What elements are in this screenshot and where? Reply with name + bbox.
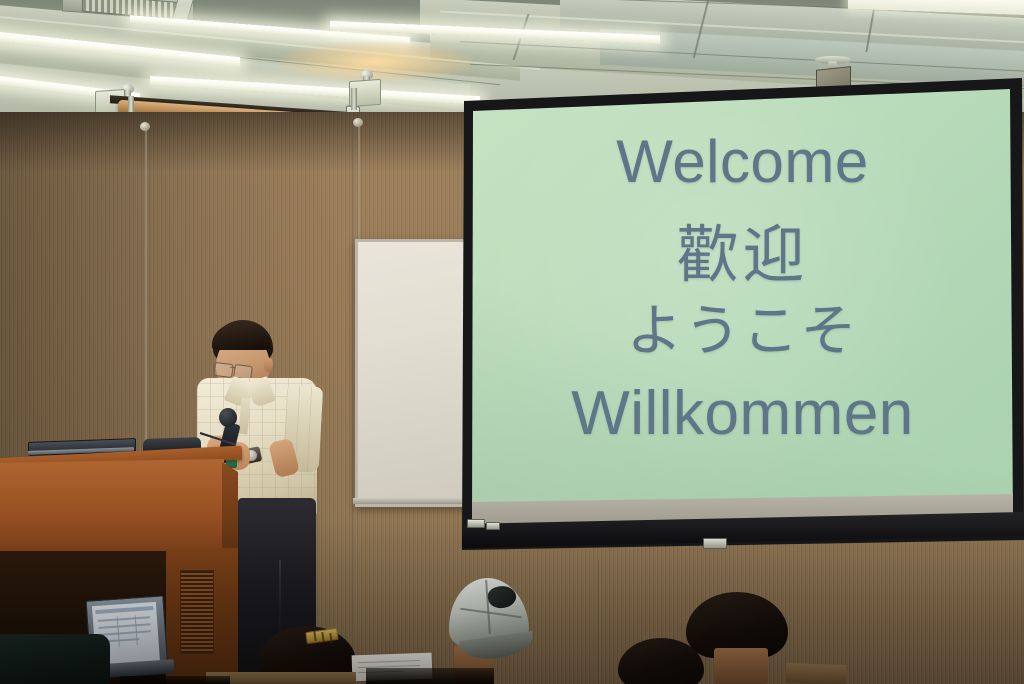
podium-front-face <box>0 459 224 557</box>
projection-screen[interactable]: Welcome 歡迎 ようこそ Willkommen <box>472 86 1013 533</box>
laptop-window-row <box>99 630 151 636</box>
wall-panel-seam <box>598 560 600 684</box>
chair-backrest <box>0 634 110 684</box>
screen-roller-bracket <box>128 96 134 112</box>
screen-center-clip <box>703 538 727 549</box>
slide-line-german: Willkommen <box>472 383 1013 445</box>
paper-line <box>358 660 420 663</box>
slide-line-welcome: Welcome <box>472 132 1013 192</box>
slide-line-chinese: 歡迎 <box>472 224 1013 286</box>
wall-panel-seam <box>352 120 354 680</box>
screen-roller-bracket <box>351 88 357 110</box>
screen-left-clip-secondary <box>486 522 500 530</box>
foreground-shadow <box>120 676 230 684</box>
laptop-window-row <box>98 616 150 622</box>
podium-side-panel <box>222 462 238 558</box>
desk-edge <box>786 663 847 684</box>
foreground-shadow <box>366 668 494 684</box>
presentation-room-scene: Welcome 歡迎 ようこそ Willkommen <box>0 0 1024 684</box>
screen-left-clip <box>467 519 485 528</box>
whiteboard-marker-tray <box>353 498 467 504</box>
wall-hanging-rod <box>145 128 147 450</box>
wireless-microphone-head <box>219 408 237 427</box>
whiteboard[interactable] <box>355 239 471 507</box>
attendee-back-right-neck <box>714 648 768 684</box>
podium-ventilation-grille <box>180 570 214 654</box>
laptop-window-row <box>98 623 150 629</box>
wall-hanging-rod <box>358 124 360 244</box>
presenter-eyeglasses-left-lens <box>213 362 234 378</box>
laptop-window-titlebar <box>95 606 153 614</box>
warm-light-glow <box>280 42 470 82</box>
presenter-ear <box>264 358 273 372</box>
slide-line-japanese: ようこそ <box>472 304 1013 360</box>
